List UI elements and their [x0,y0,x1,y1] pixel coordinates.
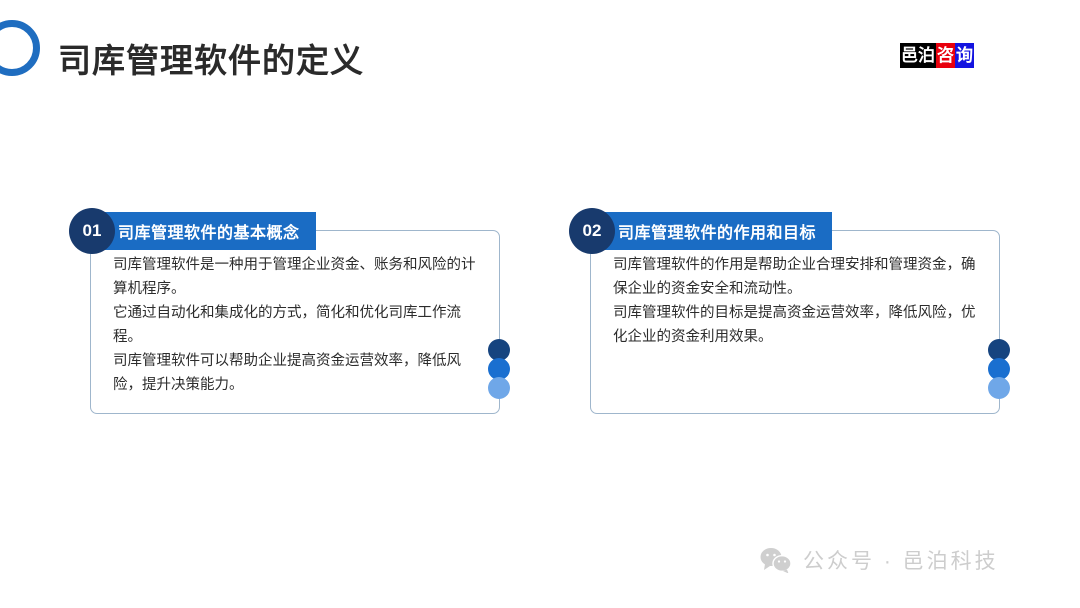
brand-logo-black: 邑泊 [900,43,936,68]
card-body-02: 司库管理软件的作用是帮助企业合理安排和管理资金，确保企业的资金安全和流动性。 司… [591,253,999,349]
content-card-01: 司库管理软件的基本概念 01 司库管理软件是一种用于管理企业资金、账务和风险的计… [90,230,500,414]
brand-logo: 邑泊 咨 询 [900,43,974,68]
brand-logo-blue: 询 [955,43,974,68]
dot-decoration-02 [988,339,1010,407]
card-header-bar-01: 司库管理软件的基本概念 [90,212,316,250]
card-paragraph: 司库管理软件的作用是帮助企业合理安排和管理资金，确保企业的资金安全和流动性。 [613,253,977,301]
brand-logo-red: 咨 [936,43,955,68]
card-number-badge-01: 01 [69,208,115,254]
card-paragraph: 司库管理软件可以帮助企业提高资金运营效率，降低风险，提升决策能力。 [113,349,477,397]
footer: 公众号 · 邑泊科技 [760,545,999,575]
card-number-badge-02: 02 [569,208,615,254]
wechat-icon [760,547,792,573]
page-title: 司库管理软件的定义 [58,34,364,82]
slide-root: 司库管理软件的定义 邑泊 咨 询 司库管理软件的基本概念 01 司库管理软件是一… [0,0,1080,608]
card-body-01: 司库管理软件是一种用于管理企业资金、账务和风险的计算机程序。 它通过自动化和集成… [91,253,499,397]
card-paragraph: 它通过自动化和集成化的方式，简化和优化司库工作流程。 [113,301,477,349]
card-paragraph: 司库管理软件的目标是提高资金运营效率，降低风险，优化企业的资金利用效果。 [613,301,977,349]
dot-decoration-01 [488,339,510,407]
circle-outline-icon [0,20,40,76]
dot-light [488,377,510,399]
content-card-02: 司库管理软件的作用和目标 02 司库管理软件的作用是帮助企业合理安排和管理资金，… [590,230,1000,414]
card-title-01: 司库管理软件的基本概念 [118,219,300,243]
card-header-bar-02: 司库管理软件的作用和目标 [590,212,832,250]
card-paragraph: 司库管理软件是一种用于管理企业资金、账务和风险的计算机程序。 [113,253,477,301]
card-title-02: 司库管理软件的作用和目标 [618,219,816,243]
dot-light [988,377,1010,399]
footer-text: 公众号 · 邑泊科技 [803,545,999,575]
